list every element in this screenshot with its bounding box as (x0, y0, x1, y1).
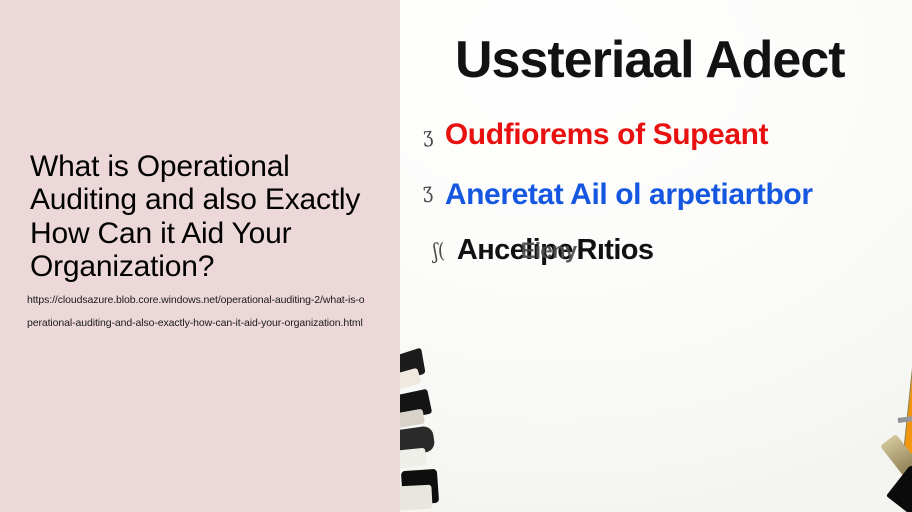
marker-pen-4-body (400, 485, 433, 512)
article-preview-card: What is Operational Auditing and also Ex… (0, 0, 912, 512)
article-image: Ussteriaal Adect ʒ Oudfiorems of Supeant… (400, 0, 912, 512)
page-title: What is Operational Auditing and also Ex… (30, 150, 375, 284)
image-bullet-black-overlap: Eieny (521, 238, 577, 264)
text-panel: What is Operational Auditing and also Ex… (0, 0, 400, 512)
source-url[interactable]: https://cloudsazure.blob.core.windows.ne… (27, 289, 367, 336)
image-bullet-red-text: Oudfiorems of Supeant (445, 118, 768, 152)
image-bullet-black: ʃ( Aнcelipe Eieny Rıtios (432, 234, 653, 267)
image-bullet-red: ʒ Oudfiorems of Supeant (422, 118, 768, 152)
bullet-marker-icon: ʃ( (432, 238, 445, 263)
bullet-marker-icon: ʒ (422, 123, 433, 148)
image-bullet-blue-text: Aneretat Ail ol arpetiartbor (445, 178, 813, 212)
image-bullet-black-tail: Rıtios (576, 234, 653, 267)
image-heading-text: Ussteriaal Adect (455, 30, 845, 90)
image-bullet-blue: Ʒ Aneretat Ail ol arpetiartbor (422, 178, 813, 212)
bullet-marker-icon: Ʒ (422, 183, 433, 208)
